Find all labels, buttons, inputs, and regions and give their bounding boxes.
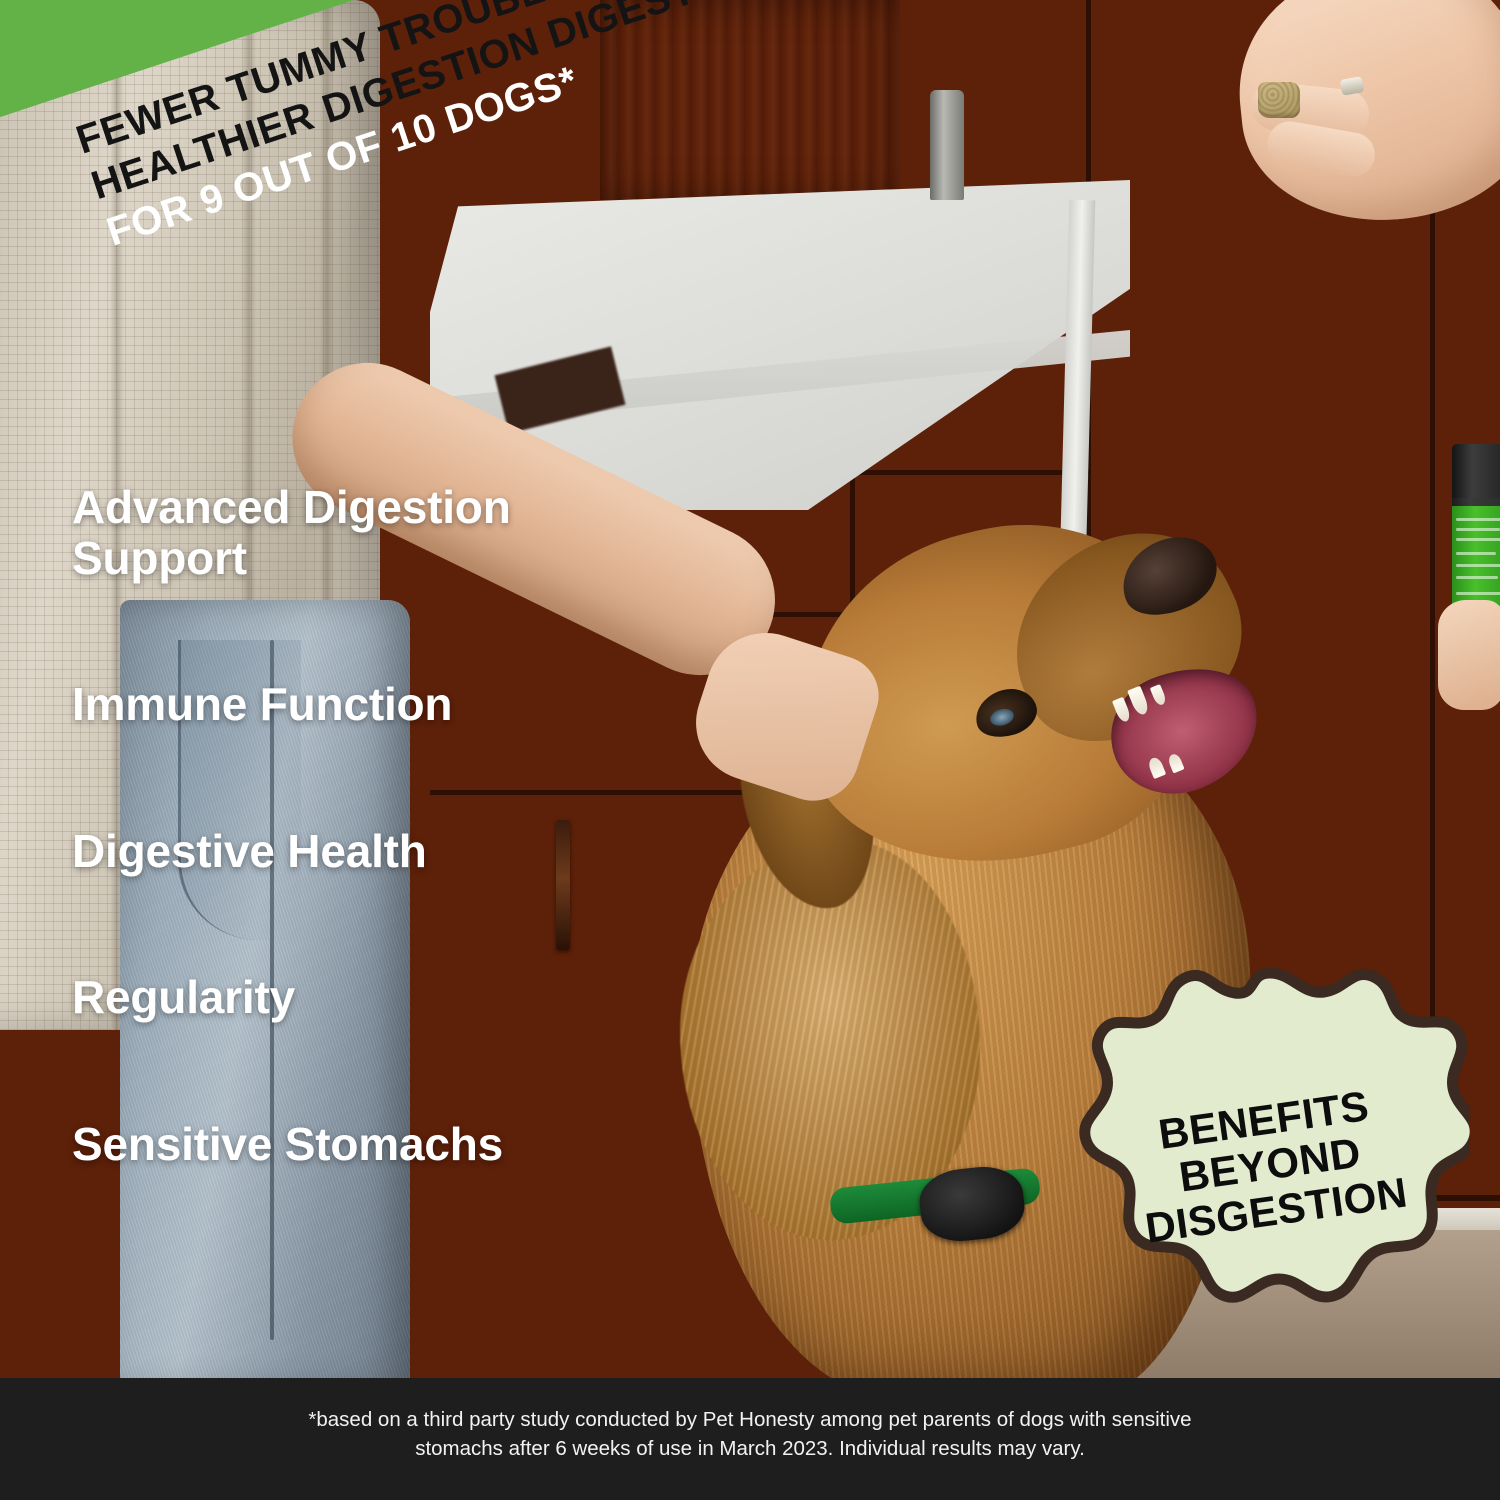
hand-holding-bottle [1438, 600, 1500, 710]
benefit-item-sensitive-stomachs: Sensitive Stomachs [72, 1119, 692, 1170]
label-text-line [1456, 528, 1500, 531]
faucet [930, 90, 964, 200]
benefit-item-advanced-digestion-support: Advanced Digestion Support [72, 482, 692, 583]
benefit-item-regularity: Regularity [72, 972, 692, 1023]
benefit-item-digestive-health: Digestive Health [72, 826, 692, 877]
label-text-line [1456, 564, 1500, 567]
footer-bar: *based on a third party study conducted … [0, 1378, 1500, 1500]
product-marketing-image: FEWER TUMMY TROUBLES & HEALTHIER DIGESTI… [0, 0, 1500, 1500]
label-text-line [1456, 552, 1496, 555]
dog-chew-treat [1258, 82, 1300, 118]
dog-tooth [1167, 752, 1185, 773]
footer-disclaimer: *based on a third party study conducted … [280, 1406, 1220, 1463]
benefit-item-immune-function: Immune Function [72, 679, 692, 730]
badge-text-block: BENEFITS BEYOND DISGESTION [1044, 939, 1496, 1391]
label-text-line [1456, 518, 1500, 521]
benefits-beyond-digestion-badge: BENEFITS BEYOND DISGESTION [1070, 965, 1470, 1365]
dog-tooth [1127, 686, 1150, 717]
dog-tooth [1112, 697, 1132, 724]
dog-tooth [1150, 684, 1168, 707]
label-text-line [1456, 592, 1500, 595]
label-text-line [1456, 576, 1498, 579]
benefits-list: Advanced Digestion Support Immune Functi… [72, 482, 692, 1170]
dog-tooth [1147, 756, 1167, 779]
supplement-bottle-cap [1452, 444, 1500, 498]
label-text-line [1456, 538, 1500, 541]
